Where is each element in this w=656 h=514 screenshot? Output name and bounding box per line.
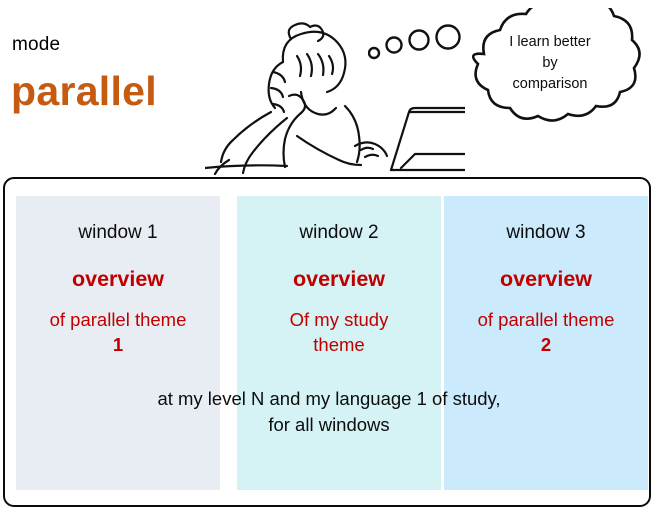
- panel-caption-line-1: at my level N and my language 1 of study…: [5, 386, 653, 412]
- window-2-sub-line-1: Of my study: [290, 309, 389, 330]
- window-2-overview-label: overview: [237, 267, 441, 292]
- thought-bubble-icon: [444, 8, 656, 138]
- panel-caption-line-2: for all windows: [5, 412, 653, 438]
- window-column-2[interactable]: window 2 overview Of my study theme: [237, 196, 441, 490]
- window-column-3[interactable]: window 3 overview of parallel theme 2: [444, 196, 648, 490]
- window-1-sub-line-1: of parallel theme: [50, 309, 187, 330]
- header: mode parallel: [0, 0, 656, 177]
- panel-caption: at my level N and my language 1 of study…: [5, 386, 653, 438]
- windows-panel: window 1 overview of parallel theme 1 wi…: [3, 177, 651, 507]
- window-2-sub-line-2: theme: [237, 332, 441, 357]
- window-1-sub-line-2: 1: [16, 332, 220, 357]
- window-3-sub-line-2: 2: [444, 332, 648, 357]
- window-3-subtitle: of parallel theme 2: [444, 307, 648, 357]
- window-2-title: window 2: [237, 222, 441, 244]
- window-1-title: window 1: [16, 222, 220, 244]
- window-2-subtitle: Of my study theme: [237, 307, 441, 357]
- window-3-title: window 3: [444, 222, 648, 244]
- window-column-1[interactable]: window 1 overview of parallel theme 1: [16, 196, 220, 490]
- window-3-sub-line-1: of parallel theme: [478, 309, 615, 330]
- mode-name-title: parallel: [11, 68, 157, 115]
- window-3-overview-label: overview: [444, 267, 648, 292]
- window-1-subtitle: of parallel theme 1: [16, 307, 220, 357]
- mode-label: mode: [12, 34, 60, 56]
- window-1-overview-label: overview: [16, 267, 220, 292]
